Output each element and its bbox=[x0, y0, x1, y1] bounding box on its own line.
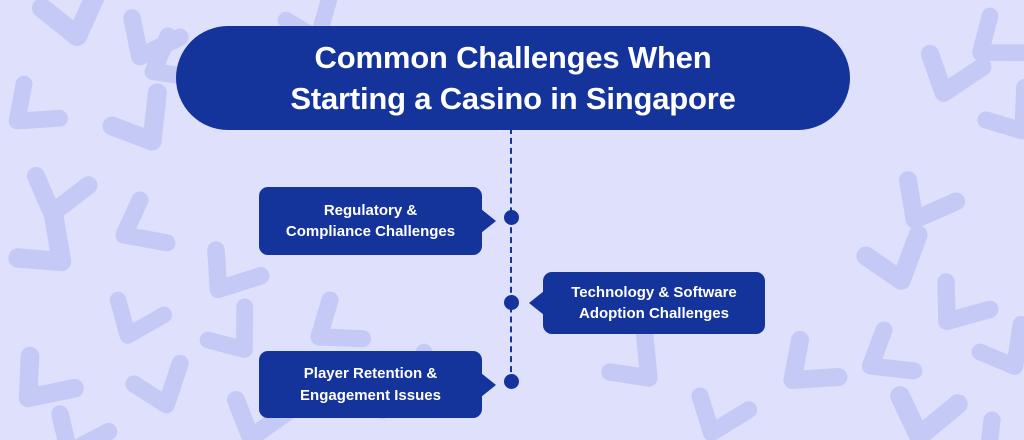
chevron-v-shape-8 bbox=[107, 297, 164, 345]
chevron-v-shape-20 bbox=[865, 235, 930, 288]
timeline-node-dot-3 bbox=[504, 374, 519, 389]
page-title-pill: Common Challenges When Starting a Casino… bbox=[176, 26, 850, 130]
chevron-v-shape-31 bbox=[47, 411, 108, 440]
challenge-card-player-retention: Player Retention & Engagement Issues bbox=[259, 351, 482, 418]
chevron-v-shape-12 bbox=[206, 307, 265, 364]
infographic-canvas: Common Challenges When Starting a Casino… bbox=[0, 0, 1024, 440]
chevron-v-shape-2 bbox=[118, 15, 180, 69]
challenge-label-1-line-1: Regulatory & bbox=[324, 202, 417, 219]
chevron-v-shape-1 bbox=[41, 0, 108, 43]
chevron-v-shape-23 bbox=[978, 324, 1024, 378]
challenge-card-label-2: Technology & Software Adoption Challenge… bbox=[557, 282, 751, 325]
chevron-v-shape-3 bbox=[2, 82, 60, 141]
chevron-v-shape-21 bbox=[928, 279, 990, 338]
challenge-label-2-line-1: Technology & Software bbox=[571, 284, 737, 301]
chevron-v-shape-14 bbox=[305, 298, 362, 359]
challenge-label-3-line-2: Engagement Issues bbox=[300, 387, 441, 404]
chevron-v-shape-26 bbox=[893, 177, 956, 233]
challenge-card-technology-software: Technology & Software Adoption Challenge… bbox=[543, 272, 765, 334]
chevron-v-shape-9 bbox=[9, 353, 75, 417]
chevron-v-shape-25 bbox=[971, 417, 1024, 440]
chevron-v-shape-28 bbox=[920, 50, 982, 101]
chevron-v-shape-11 bbox=[199, 247, 261, 305]
timeline-spine bbox=[509, 128, 513, 382]
challenge-label-3-line-1: Player Retention & bbox=[304, 365, 437, 382]
challenge-card-label-1: Regulatory & Compliance Challenges bbox=[272, 200, 469, 243]
chevron-v-shape-7 bbox=[15, 213, 82, 281]
chevron-v-shape-18 bbox=[690, 393, 749, 440]
challenge-label-1-line-2: Compliance Challenges bbox=[286, 223, 455, 240]
challenge-card-label-3: Player Retention & Engagement Issues bbox=[286, 363, 455, 406]
chevron-v-shape-22 bbox=[858, 328, 914, 389]
timeline-dashed-line bbox=[510, 128, 512, 382]
challenge-card-regulatory-compliance: Regulatory & Compliance Challenges bbox=[259, 187, 482, 255]
timeline-node-dot-2 bbox=[504, 295, 519, 310]
page-title-line-1: Common Challenges When bbox=[315, 37, 712, 78]
chevron-v-shape-17 bbox=[607, 334, 668, 395]
chevron-v-shape-19 bbox=[776, 337, 838, 401]
page-title-line-2: Starting a Casino in Singapore bbox=[290, 78, 735, 119]
chevron-v-shape-29 bbox=[966, 14, 1023, 73]
chevron-v-shape-27 bbox=[984, 87, 1024, 144]
chevron-v-shape-10 bbox=[133, 363, 192, 412]
chevron-v-shape-6 bbox=[113, 198, 167, 259]
chevron-v-shape-24 bbox=[893, 392, 958, 440]
chevron-v-shape-5 bbox=[28, 172, 88, 220]
challenge-label-2-line-2: Adoption Challenges bbox=[579, 305, 729, 322]
chevron-v-shape-4 bbox=[110, 93, 178, 155]
timeline-node-dot-1 bbox=[504, 210, 519, 225]
